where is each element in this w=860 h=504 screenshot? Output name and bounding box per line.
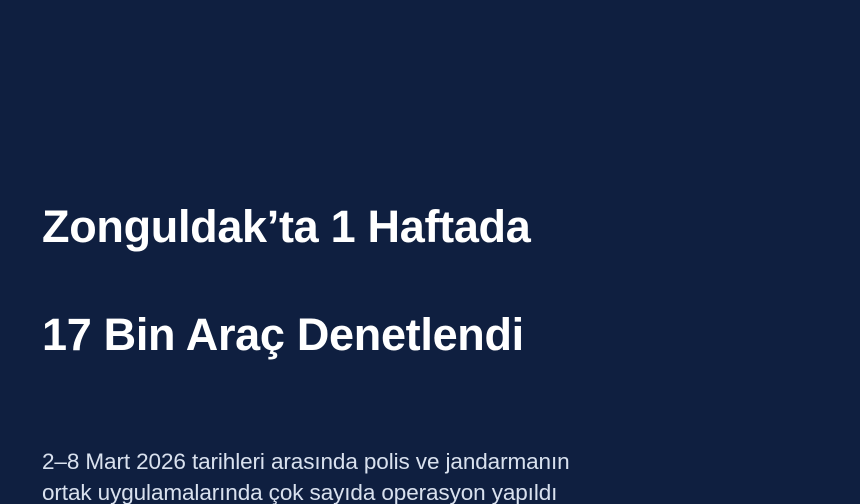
subheadline-line-2: ortak uygulamalarında çok sayıda operasy… bbox=[42, 477, 818, 504]
headline-line-2: 17 Bin Araç Denetlendi bbox=[42, 308, 818, 362]
headline-line-1: Zonguldak’ta 1 Haftada bbox=[42, 200, 818, 254]
page-title: Zonguldak’ta 1 Haftada 17 Bin Araç Denet… bbox=[42, 146, 818, 416]
page-subtitle: 2–8 Mart 2026 tarihleri arasında polis v… bbox=[42, 446, 818, 504]
news-card: Zonguldak’ta 1 Haftada 17 Bin Araç Denet… bbox=[0, 0, 860, 504]
card-content: Zonguldak’ta 1 Haftada 17 Bin Araç Denet… bbox=[42, 146, 818, 504]
subheadline-line-1: 2–8 Mart 2026 tarihleri arasında polis v… bbox=[42, 446, 818, 477]
